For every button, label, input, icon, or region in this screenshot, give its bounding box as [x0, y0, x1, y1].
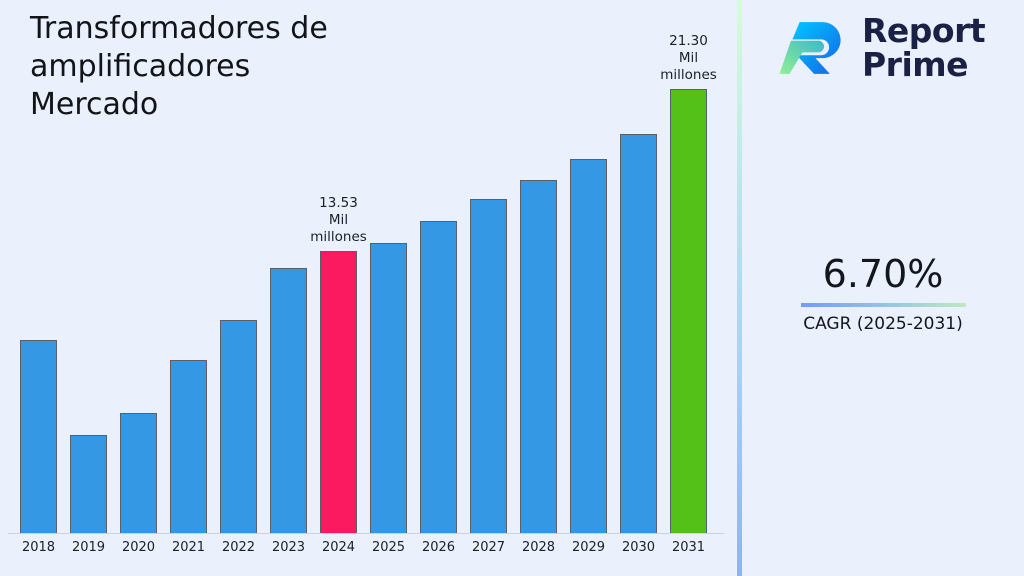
bar-group — [20, 340, 57, 533]
bar-group — [120, 413, 157, 533]
x-tick-2030: 2030 — [622, 540, 655, 555]
bar-group — [70, 435, 107, 533]
x-tick-wrap: 2022 — [220, 540, 257, 558]
bar-2030[interactable] — [620, 134, 657, 533]
bar-value-label-2031: 21.30 Mil millones — [660, 33, 717, 84]
bar-group: 21.30 Mil millones — [670, 89, 707, 533]
bar-group — [170, 360, 207, 533]
bar-2027[interactable] — [470, 199, 507, 533]
x-tick-wrap: 2026 — [420, 540, 457, 558]
x-tick-wrap: 2030 — [620, 540, 657, 558]
bar-2026[interactable] — [420, 221, 457, 533]
report-prime-logo-icon — [778, 12, 850, 84]
cagr-caption: CAGR (2025-2031) — [742, 313, 1024, 335]
x-tick-wrap: 2020 — [120, 540, 157, 558]
bar-group — [520, 180, 557, 533]
x-tick-wrap: 2023 — [270, 540, 307, 558]
chart-panel: Transformadores de amplificadores Mercad… — [0, 0, 740, 576]
bar-2019[interactable] — [70, 435, 107, 533]
x-tick-2023: 2023 — [272, 540, 305, 555]
x-tick-2029: 2029 — [572, 540, 605, 555]
bar-value-label-2024: 13.53 Mil millones — [310, 195, 367, 246]
x-tick-2031: 2031 — [672, 540, 705, 555]
x-tick-wrap: 2027 — [470, 540, 507, 558]
bar-group: 13.53 Mil millones — [320, 251, 357, 533]
bar-2022[interactable] — [220, 320, 257, 533]
x-tick-2027: 2027 — [472, 540, 505, 555]
x-tick-2020: 2020 — [122, 540, 155, 555]
cagr-divider-rule — [801, 303, 966, 307]
brand-logo: Report Prime — [778, 12, 985, 84]
x-tick-wrap: 2029 — [570, 540, 607, 558]
bar-group — [220, 320, 257, 533]
bar-2020[interactable] — [120, 413, 157, 533]
bar-group — [270, 268, 307, 533]
bar-2024[interactable] — [320, 251, 357, 533]
bar-group — [570, 159, 607, 533]
cagr-block: 6.70% CAGR (2025-2031) — [742, 252, 1024, 335]
bar-2029[interactable] — [570, 159, 607, 533]
bar-2023[interactable] — [270, 268, 307, 533]
bar-group — [470, 199, 507, 533]
x-tick-2026: 2026 — [422, 540, 455, 555]
x-tick-2018: 2018 — [22, 540, 55, 555]
bar-chart-plot: 20182019202020212022202313.53 Mil millon… — [0, 0, 740, 576]
bar-group — [370, 243, 407, 533]
brand-name: Report Prime — [862, 14, 985, 82]
x-tick-wrap: 2021 — [170, 540, 207, 558]
bar-group — [620, 134, 657, 533]
x-tick-wrap: 2019 — [70, 540, 107, 558]
x-tick-2019: 2019 — [72, 540, 105, 555]
x-tick-wrap: 2025 — [370, 540, 407, 558]
x-tick-2021: 2021 — [172, 540, 205, 555]
x-axis-line — [8, 533, 724, 534]
x-tick-2028: 2028 — [522, 540, 555, 555]
x-tick-2025: 2025 — [372, 540, 405, 555]
x-tick-2024: 2024 — [322, 540, 355, 555]
x-tick-wrap: 2031 — [670, 540, 707, 558]
x-tick-wrap: 2028 — [520, 540, 557, 558]
side-panel: Report Prime 6.70% CAGR (2025-2031) — [742, 0, 1024, 576]
bar-2025[interactable] — [370, 243, 407, 533]
x-tick-2022: 2022 — [222, 540, 255, 555]
x-tick-wrap: 2018 — [20, 540, 57, 558]
bar-2021[interactable] — [170, 360, 207, 533]
chart-screenshot: Transformadores de amplificadores Mercad… — [0, 0, 1024, 576]
bar-2031[interactable] — [670, 89, 707, 533]
bar-2018[interactable] — [20, 340, 57, 533]
x-tick-wrap: 2024 — [320, 540, 357, 558]
bar-group — [420, 221, 457, 533]
cagr-value: 6.70% — [742, 252, 1024, 296]
bar-2028[interactable] — [520, 180, 557, 533]
